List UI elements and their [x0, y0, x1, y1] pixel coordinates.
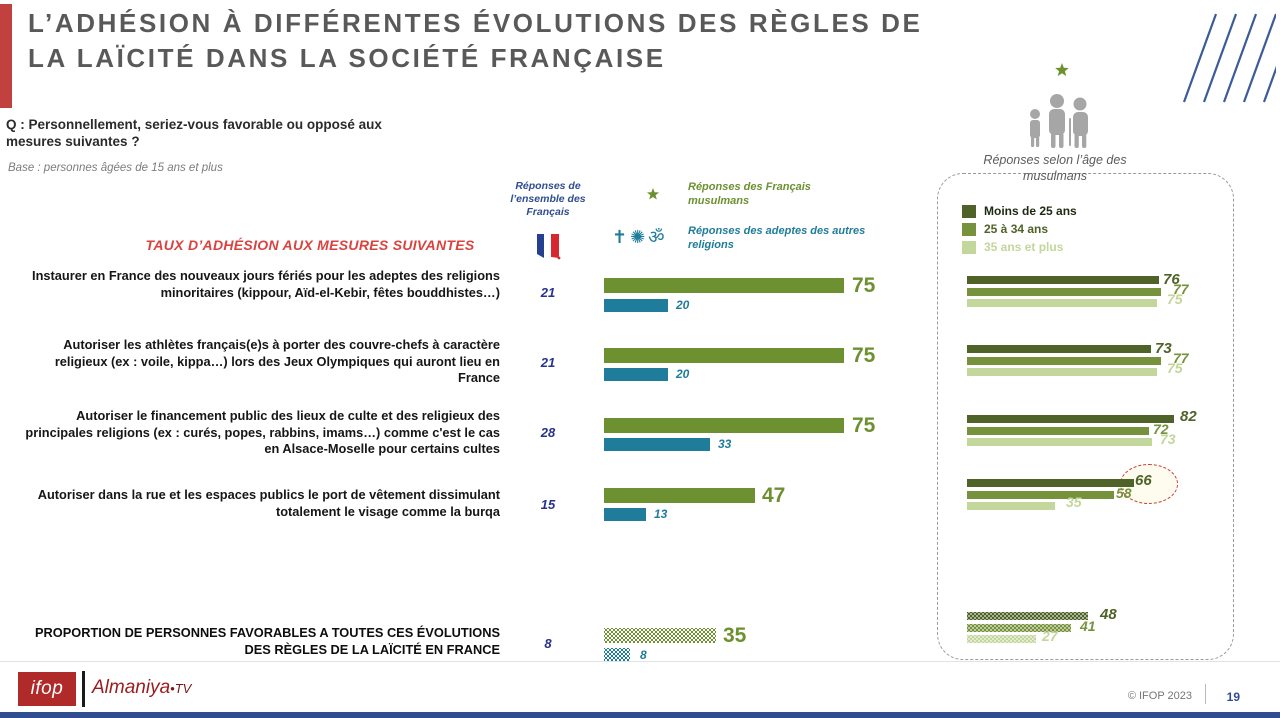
bar-other-2: [604, 368, 668, 381]
value-25-34-4: 58: [1116, 485, 1132, 501]
value-35plus-3: 73: [1160, 431, 1176, 447]
value-other-2: 20: [676, 367, 689, 381]
bar-muslim-2: [604, 348, 844, 363]
value-35plus-4: 35: [1066, 494, 1082, 510]
french-flag-icon: [533, 232, 563, 260]
age-legend-item-35plus: 35 ans et plus: [962, 239, 1162, 255]
value-other-4: 13: [654, 507, 667, 521]
ifop-logo: ifop: [18, 672, 76, 706]
value-u25-4: 66: [1135, 472, 1152, 489]
crescent-star-icon: [1035, 52, 1075, 86]
almaniya-logo-text: Almaniya: [92, 677, 170, 698]
age-label-25-34: 25 à 34 ans: [984, 222, 1048, 236]
bar-35plus-2: [967, 368, 1157, 376]
bar-25-34-2: [967, 357, 1161, 365]
age-legend: Moins de 25 ans 25 à 34 ans 35 ans et pl…: [962, 203, 1162, 257]
copyright-text: © IFOP 2023: [1128, 690, 1192, 702]
bar-muslim-summary: [604, 628, 716, 643]
bar-u25-4: [967, 479, 1134, 487]
age-legend-item-u25: Moins de 25 ans: [962, 203, 1162, 219]
bar-25-34-3: [967, 427, 1149, 435]
measure-label-3: Autoriser le financement public des lieu…: [20, 408, 500, 458]
value-u25-summary: 48: [1100, 606, 1117, 623]
bar-25-34-4: [967, 491, 1114, 499]
value-other-summary: 8: [640, 648, 647, 662]
bar-muslim-3: [604, 418, 844, 433]
cross-star-om-icons: ✝✺ॐ: [612, 226, 674, 248]
value-muslim-4: 47: [762, 484, 785, 508]
three-people-ages-icon: [1018, 88, 1098, 148]
value-other-3: 33: [718, 437, 731, 451]
legend-muslims-label: Réponses des Français musulmans: [688, 180, 858, 208]
bar-other-4: [604, 508, 646, 521]
summary-label: PROPORTION DE PERSONNES FAVORABLES A TOU…: [20, 624, 500, 658]
value-all-french-2: 21: [528, 355, 568, 370]
age-label-35plus: 35 ans et plus: [984, 240, 1063, 254]
bar-other-3: [604, 438, 710, 451]
value-muslim-1: 75: [852, 274, 875, 298]
age-swatch-25-34: [962, 223, 976, 236]
bar-u25-1: [967, 276, 1159, 284]
bar-35plus-4: [967, 502, 1055, 510]
measure-label-2: Autoriser les athlètes français(e)s à po…: [20, 337, 500, 387]
value-all-french-summary: 8: [528, 636, 568, 651]
age-label-u25: Moins de 25 ans: [984, 204, 1077, 218]
value-35plus-summary: 27: [1042, 628, 1058, 644]
page-title: L’ADHÉSION À DIFFÉRENTES ÉVOLUTIONS DES …: [28, 6, 928, 76]
crescent-star-icon: [630, 178, 664, 208]
footer-divider: [0, 661, 1280, 662]
legend-all-french-label: Réponses de l’ensemble des Français: [494, 180, 602, 219]
almaniya-logo-suffix: •TV: [170, 681, 191, 696]
survey-base-note: Base : personnes âgées de 15 ans et plus: [8, 162, 438, 174]
measure-label-4: Autoriser dans la rue et les espaces pub…: [20, 487, 500, 520]
decorative-diagonal-lines-icon: [1176, 2, 1276, 106]
bar-muslim-1: [604, 278, 844, 293]
value-35plus-2: 75: [1167, 360, 1183, 376]
bar-muslim-4: [604, 488, 755, 503]
bar-35plus-summary: [967, 635, 1036, 643]
bar-u25-2: [967, 345, 1151, 353]
age-panel-caption: Réponses selon l’âge des musulmans: [955, 152, 1155, 184]
page-number: 19: [1227, 690, 1240, 704]
value-muslim-2: 75: [852, 344, 875, 368]
value-muslim-summary: 35: [723, 624, 746, 648]
bar-other-1: [604, 299, 668, 312]
value-all-french-4: 15: [528, 497, 568, 512]
almaniya-tv-logo: Almaniya•TV: [92, 673, 202, 705]
section-title: TAUX D’ADHÉSION AUX MESURES SUIVANTES: [120, 237, 500, 253]
value-all-french-3: 28: [528, 425, 568, 440]
footer-accent-bar: [0, 712, 1280, 718]
bar-35plus-3: [967, 438, 1152, 446]
bar-other-summary: [604, 648, 630, 661]
bar-35plus-1: [967, 299, 1157, 307]
measure-label-1: Instaurer en France des nouveaux jours f…: [20, 268, 500, 301]
value-u25-2: 73: [1155, 340, 1172, 357]
bar-25-34-1: [967, 288, 1161, 296]
title-accent-bar: [0, 4, 12, 108]
footer-separator: [1205, 684, 1206, 704]
bar-u25-3: [967, 415, 1174, 423]
value-muslim-3: 75: [852, 414, 875, 438]
value-u25-3: 82: [1180, 408, 1197, 425]
survey-question: Q : Personnellement, seriez-vous favorab…: [6, 116, 436, 150]
logo-divider: [82, 671, 85, 707]
age-legend-item-25-34: 25 à 34 ans: [962, 221, 1162, 237]
bar-u25-summary: [967, 612, 1088, 620]
value-25-34-summary: 41: [1080, 618, 1096, 634]
age-swatch-35plus: [962, 241, 976, 254]
value-35plus-1: 75: [1167, 291, 1183, 307]
value-other-1: 20: [676, 298, 689, 312]
legend-other-religions-label: Réponses des adeptes des autres religion…: [688, 224, 868, 252]
value-all-french-1: 21: [528, 285, 568, 300]
age-swatch-u25: [962, 205, 976, 218]
